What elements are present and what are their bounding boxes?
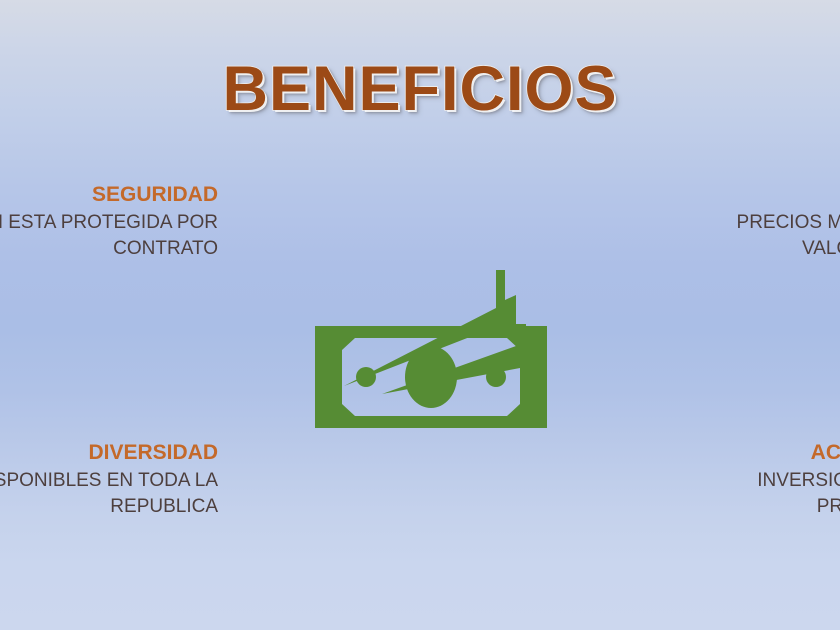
benefit-heading-ahorro: AHORRO — [600, 182, 840, 208]
benefit-body-line-2-accesibilidad: PRESUPUESTO — [600, 494, 840, 520]
benefit-heading-accesibilidad: ACCESIBILIDA — [600, 440, 840, 466]
benefit-body-line-1-seguridad: ON ESTA PROTEGIDA POR — [0, 210, 240, 236]
money-banknote-icon — [300, 248, 560, 438]
presentation-slide: BENEFICIOS SEGURIDAD ON ESTA PROTEGIDA P… — [0, 0, 840, 630]
benefit-heading-seguridad: SEGURIDAD — [0, 182, 240, 208]
benefit-block-accesibilidad: ACCESIBILIDA INVERSIONES ACORD PRESUPUES… — [600, 440, 840, 520]
benefit-body-line-1-diversidad: DISPONIBLES EN TODA LA — [0, 468, 240, 494]
benefit-body-line-2-seguridad: CONTRATO — [0, 236, 240, 262]
slide-title-container: BENEFICIOS — [0, 56, 840, 122]
banknote-center-oval-icon — [405, 346, 457, 408]
benefit-block-diversidad: DIVERSIDAD DISPONIBLES EN TODA LA REPUBL… — [0, 440, 240, 520]
banknote-left-dot-icon — [356, 367, 376, 387]
benefit-body-line-2-diversidad: REPUBLICA — [0, 494, 240, 520]
benefit-body-line-1-ahorro: PRECIOS MUY POR DEB — [600, 210, 840, 236]
page-title: BENEFICIOS — [222, 56, 617, 122]
benefit-body-line-2-ahorro: VALOR COMERCI — [600, 236, 840, 262]
benefit-body-line-1-accesibilidad: INVERSIONES ACORD — [600, 468, 840, 494]
banknote-right-dot-icon — [486, 367, 506, 387]
benefit-heading-diversidad: DIVERSIDAD — [0, 440, 240, 466]
benefit-block-seguridad: SEGURIDAD ON ESTA PROTEGIDA POR CONTRATO — [0, 182, 240, 262]
benefit-block-ahorro: AHORRO PRECIOS MUY POR DEB VALOR COMERCI — [600, 182, 840, 262]
